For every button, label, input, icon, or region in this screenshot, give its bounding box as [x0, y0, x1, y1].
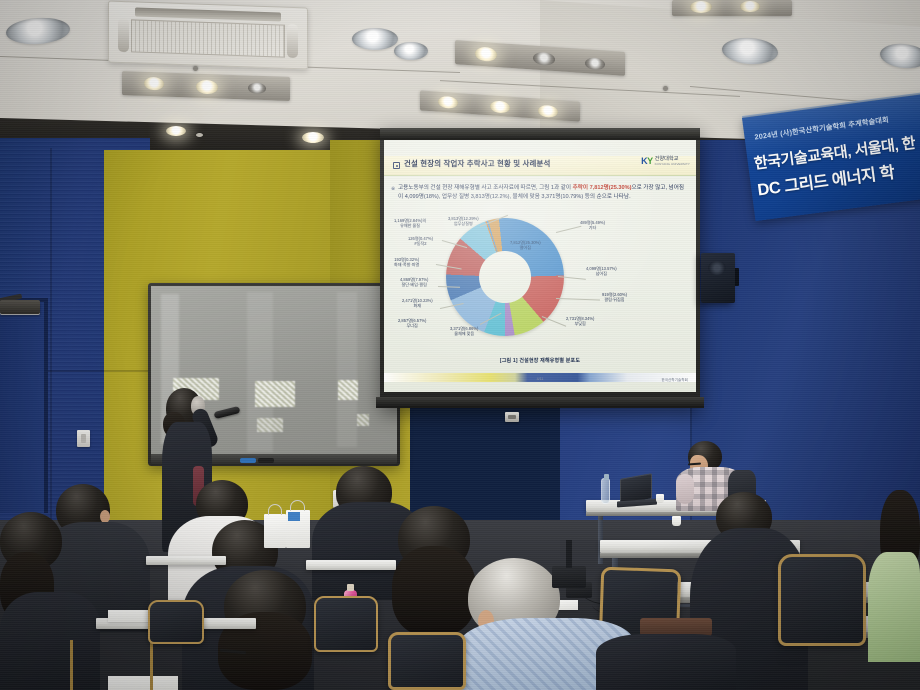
chart-label: 126명(0.47%) #동작2: [408, 236, 433, 247]
screen-bottom-rail: [376, 397, 704, 408]
logo-institution-sub: KONYANG UNIVERSITY: [655, 162, 690, 166]
chart-label: 3,813명(12.29%) 업무상질병: [448, 216, 479, 227]
attendee-green-body: [868, 552, 920, 662]
chart-label-name: 깔림·뒤집힘: [602, 297, 627, 302]
lecture-room-photo: 건설 현장의 작업자 추락사고 현황 및 사례분석 KY 건양대학교 KONYA…: [0, 0, 920, 690]
chart-label: 489명(5.49%) 기타: [580, 220, 605, 231]
downlight-icon: [248, 82, 266, 94]
downlight-icon: [166, 126, 186, 136]
slide-footer-note: 한국산학기술학회: [661, 377, 688, 382]
slide-header: 건설 현장의 작업자 추락사고 현황 및 사례분석 KY 건양대학교 KONYA…: [384, 156, 696, 176]
bottle-icon: [601, 478, 610, 504]
screen-control-panel[interactable]: [505, 412, 519, 422]
chart-label: 2,857명(6.57%) 무너짐: [398, 318, 426, 329]
slide-title: 건설 현장의 작업자 추락사고 현황 및 사례분석: [404, 158, 551, 169]
light-switch-icon[interactable]: [77, 430, 90, 447]
chart-label: 2,731명(8.34%) 부딪힘: [566, 316, 594, 327]
whiteboard-window-reflection: [255, 381, 295, 407]
chair[interactable]: [388, 632, 466, 690]
donut-center-hole: [479, 251, 531, 303]
downlight-icon: [394, 42, 428, 60]
chart-label-name: 화재: [402, 303, 433, 308]
chart-label-name: #동작2: [408, 241, 433, 246]
whiteboard-window-reflection: [357, 414, 369, 426]
shopping-bag-icon: [264, 514, 286, 548]
attendee-center3-hair: [392, 546, 476, 636]
downlight-icon: [144, 77, 164, 91]
cup-icon: [672, 516, 681, 526]
chart-label: 2,471명(10.23%) 화재: [402, 298, 433, 309]
chart-label-name: 업무상질병: [448, 221, 479, 226]
body-bullet: ※: [391, 185, 395, 193]
handout-paper: [108, 676, 178, 690]
downlight-icon: [475, 46, 497, 62]
projector-mount: [0, 300, 40, 314]
downlight-icon: [740, 1, 760, 12]
chart-label: 7,812명(25.30%) 떨어짐: [510, 240, 541, 251]
whiteboard-marker[interactable]: [240, 458, 256, 463]
whiteboard-glare: [337, 292, 357, 447]
downlight-icon: [196, 80, 218, 95]
sprinkler-icon: [196, 133, 203, 137]
screen-top-rail: [380, 128, 700, 140]
downlight-icon: [533, 52, 555, 67]
cup-icon: [656, 494, 664, 503]
bag-handle: [268, 504, 282, 515]
chair[interactable]: [148, 600, 204, 644]
chart-label: 4,869명(7.97%) 절단·베임·찔림: [400, 277, 428, 288]
body-highlight: 추락이 7,812명(25.30%): [573, 185, 632, 191]
slide-page-number: 4/11: [537, 377, 544, 381]
chart-label-name: 무너짐: [398, 323, 426, 328]
downlight-icon: [690, 1, 712, 13]
whiteboard-window-reflection: [338, 380, 358, 400]
chart-label-name: 화재·폭발·파열: [394, 262, 419, 267]
table-row: [306, 560, 396, 570]
air-conditioner-icon: [108, 1, 308, 70]
av-equipment: [552, 566, 586, 588]
chart-label-name: 물체에 맞음: [450, 331, 478, 336]
sprinkler-icon: [663, 86, 668, 91]
whiteboard-window-reflection: [257, 418, 283, 432]
chart-label: 4,099명(13.57%) 넘어짐: [586, 266, 617, 277]
chart-label: 1,169명(2.84%)의 유해한 물질: [394, 218, 426, 229]
presentation-slide: 건설 현장의 작업자 추락사고 현황 및 사례분석 KY 건양대학교 KONYA…: [384, 140, 696, 392]
downlight-icon: [585, 57, 605, 70]
chart-label-name: 기타: [580, 225, 605, 230]
downlight-icon: [438, 96, 458, 109]
chair[interactable]: [778, 554, 866, 646]
body-text-part1: 고용노동부의 건설 현장 재해유형별 사고 조사자료에 따르면, 그림 1과 같…: [398, 185, 573, 191]
sprinkler-icon: [193, 66, 198, 71]
chart-label: 3,371명(6.86%) 물체에 맞음: [450, 326, 478, 337]
light-strip: [672, 0, 792, 16]
attendee-laptop-arm: [676, 474, 694, 504]
chart-label-name: 유해한 물질: [394, 223, 426, 228]
ac-side-vent: [287, 24, 298, 58]
projection-screen: 건설 현장의 작업자 추락사고 현황 및 사례분석 KY 건양대학교 KONYA…: [380, 128, 700, 408]
attendee-left-front-body: [0, 592, 100, 690]
chart-label: 193명(0.32%) 화재·폭발·파열: [394, 257, 419, 268]
ac-grille: [131, 19, 285, 57]
table-row: [146, 556, 226, 565]
chart-caption: [그림 1] 건설현장 재해유형별 분포도: [384, 357, 696, 364]
chair[interactable]: [314, 596, 378, 652]
chart-label-name: 부딪힘: [566, 321, 594, 326]
logo-mark: KY: [641, 157, 653, 166]
chart-label-name: 절단·베임·찔림: [400, 282, 428, 287]
whiteboard-marker[interactable]: [258, 458, 274, 463]
downlight-icon: [352, 28, 398, 50]
bag-handle: [290, 500, 305, 511]
downlight-icon: [490, 100, 510, 113]
room-door[interactable]: [0, 298, 48, 513]
chair-frame: [70, 640, 73, 690]
logo-letter-y: Y: [647, 156, 653, 166]
tripod-leg: [566, 540, 572, 568]
speaker-cone: [708, 261, 726, 275]
chart-label-name: 넘어짐: [586, 271, 617, 276]
university-logo: KY 건양대학교 KONYANG UNIVERSITY: [641, 157, 690, 166]
chart-label: 919명(2.60%) 깔림·뒤집힘: [602, 292, 627, 303]
chart-label-name: 떨어짐: [510, 245, 541, 250]
speaker-icon: [701, 253, 735, 303]
wall-seam: [50, 148, 52, 548]
ac-side-vent: [118, 18, 129, 52]
downlight-icon: [302, 132, 324, 143]
downlight-icon: [538, 105, 558, 118]
attendee-front-right-body: [596, 634, 736, 690]
slide-body: ※고용노동부의 건설 현장 재해유형별 사고 조사자료에 따르면, 그림 1과 …: [398, 184, 684, 202]
bag-logo: [288, 512, 300, 521]
square-bullet-icon: [393, 162, 400, 169]
